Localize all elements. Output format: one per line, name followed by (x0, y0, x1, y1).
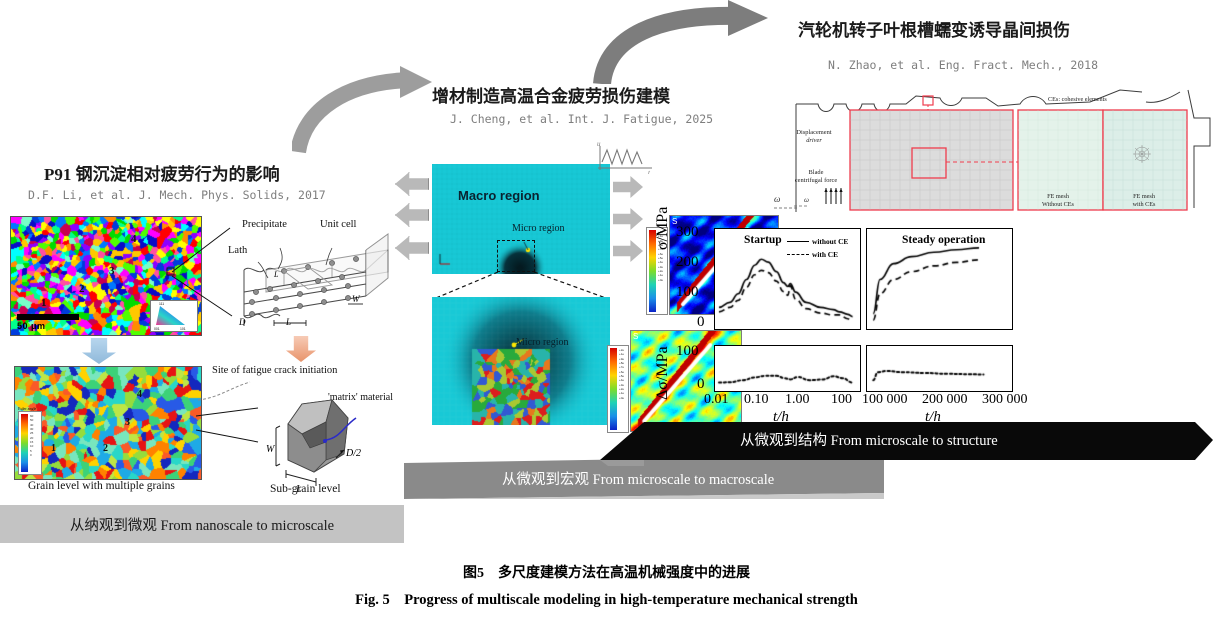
svg-text:CEs: cohesive elements: CEs: cohesive elements (1048, 96, 1107, 103)
ylabel-sigma: σ/MPa (654, 207, 672, 250)
svg-text:FE mesh: FE mesh (1047, 193, 1070, 200)
banner-structure-text: 从微观到结构 From microscale to structure (740, 429, 998, 450)
ytick-200: 200 (676, 254, 699, 271)
arrow-down-to-grain-level (82, 338, 116, 364)
plot-title-startup: Startup (744, 234, 782, 246)
plot-steady-delta (866, 345, 1013, 392)
svg-text:ω: ω (804, 196, 809, 204)
ytick-100: 100 (676, 284, 699, 301)
colorbar-ticks: 605040302520151050 (30, 414, 40, 472)
svg-text:driver: driver (806, 137, 822, 144)
arrow-down-to-subgrain (286, 336, 316, 362)
grain-number-b1: 1 (51, 443, 56, 454)
banner-microscale-to-structure: 从微观到结构 From microscale to structure (600, 414, 1213, 460)
xtick-0.10: 0.10 (744, 392, 769, 408)
left-panel-reference: D.F. Li, et al. J. Mech. Phys. Solids, 2… (28, 188, 326, 202)
ytick-300: 300 (676, 224, 699, 241)
ytick-0-lower: 0 (697, 376, 705, 393)
legend-dash-swatch (787, 254, 809, 255)
unit-cell-schematic: D L W L (228, 232, 413, 328)
svg-text:D: D (238, 317, 246, 327)
svg-text:centrifugal force: centrifugal force (795, 177, 838, 184)
svg-text:Blade: Blade (809, 169, 824, 176)
right-panel-reference: N. Zhao, et al. Eng. Fract. Mech., 2018 (828, 58, 1098, 72)
micro-region-label-bottom: Micro region (516, 337, 569, 348)
svg-text:L: L (285, 317, 291, 327)
field-tag-bottom: S (633, 332, 638, 341)
legend-solid-swatch (787, 241, 809, 242)
legend-with-ce: with CE (787, 250, 838, 259)
svg-text:with CEs: with CEs (1133, 201, 1156, 208)
ebsd-map-bottom: 605040302520151050 Euler angle 1 2 3 4 (14, 366, 202, 480)
svg-text:L: L (273, 270, 279, 279)
ebsd-to-subgrain-leaders (196, 396, 266, 456)
ytick-100-lower: 100 (676, 343, 699, 360)
macro-region-label: Macro region (458, 188, 540, 203)
legend-label-with-ce: with CE (812, 250, 838, 259)
middle-panel-reference: J. Cheng, et al. Int. J. Fatigue, 2025 (450, 112, 713, 126)
svg-text:u: u (597, 140, 601, 148)
banner-macroscale-text: 从微观到宏观 From microscale to macroscale (502, 468, 774, 489)
svg-text:Without CEs: Without CEs (1042, 201, 1074, 208)
svg-text:Displacement: Displacement (796, 129, 831, 136)
banner-nanoscale-to-microscale: 从纳观到微观 From nanoscale to microscale (0, 505, 404, 543)
arrow-right-2 (613, 208, 643, 230)
xtick-1.00: 1.00 (785, 392, 810, 408)
xtick-100: 100 (831, 392, 852, 408)
arrow-left-2 (395, 203, 429, 227)
svg-text:ω: ω (774, 194, 780, 204)
xtick-300000: 300 000 (982, 392, 1028, 408)
figure-caption-english: Fig. 5 Progress of multiscale modeling i… (0, 592, 1213, 609)
fe-model-schematic: Displacement driver Blade centrifugal fo… (790, 88, 1213, 214)
micro-region-label-top: Micro region (512, 223, 565, 234)
ytick-0-upper: 0 (697, 314, 705, 331)
svg-text:D/2: D/2 (345, 448, 361, 459)
subgrain-level-caption: Sub-grain level (270, 483, 341, 495)
grain-number-2: 2 (79, 283, 85, 295)
grain-level-caption: Grain level with multiple grains (28, 480, 175, 492)
ylabel-delta-sigma: Δσ/MPa (654, 346, 672, 400)
figure-caption-chinese: 图5 多尺度建模方法在高温机械强度中的进展 (0, 562, 1213, 582)
grain-number-1: 1 (41, 297, 47, 309)
legend-without-ce: without CE (787, 237, 848, 246)
xtick-100000: 100 000 (862, 392, 908, 408)
left-panel-title: P91 钢沉淀相对疲劳行为的影响 (44, 160, 280, 185)
precipitate-label: Precipitate (242, 219, 287, 230)
xtick-200000: 200 000 (922, 392, 968, 408)
ebsd-scalebar-top: 50 μm (17, 314, 79, 331)
micro-region-block: Micro region (432, 297, 610, 425)
curved-arrow-middle-to-right (590, 0, 780, 84)
svg-text:W: W (352, 294, 361, 304)
cyclic-load-waveform-icon: u t (596, 140, 656, 174)
zoom-connector-lines (432, 268, 610, 300)
plot-startup-delta (714, 345, 861, 392)
omega-axis-icon: ω (772, 190, 802, 220)
grain-number-3: 3 (109, 265, 115, 277)
euler-angle-colorbar: 605040302520151050 (18, 411, 42, 475)
euler-angle-colorbar-title: Euler angle (18, 406, 36, 411)
plot-title-steady: Steady operation (902, 234, 985, 246)
svg-text:FE mesh: FE mesh (1133, 193, 1156, 200)
right-panel-title: 汽轮机转子叶根槽蠕变诱导晶间损伤 (798, 16, 1070, 41)
curved-arrow-left-to-middle (292, 66, 432, 154)
arrow-left-1 (395, 172, 429, 196)
figure-root: P91 钢沉淀相对疲劳行为的影响 D.F. Li, et al. J. Mech… (0, 0, 1213, 633)
legend-label-without-ce: without CE (812, 237, 848, 246)
grain-number-b3: 3 (125, 417, 130, 428)
grain-number-b4: 4 (137, 389, 142, 400)
middle-panel-title: 增材制造高温合金疲劳损伤建模 (432, 82, 670, 107)
grain-number-b2: 2 (103, 443, 108, 454)
xtick-0.01: 0.01 (704, 392, 729, 408)
svg-text:001: 001 (154, 327, 160, 331)
arrow-right-1 (613, 176, 643, 198)
svg-text:W: W (266, 444, 276, 455)
subgrain-polyhedron: W L D/2 (240, 382, 420, 492)
arrow-right-3 (613, 240, 643, 262)
unit-cell-label: Unit cell (320, 219, 356, 230)
banner-nanoscale-text: 从纳观到微观 From nanoscale to microscale (70, 514, 334, 535)
grain-number-4: 4 (131, 233, 137, 245)
svg-text:t: t (648, 169, 651, 174)
